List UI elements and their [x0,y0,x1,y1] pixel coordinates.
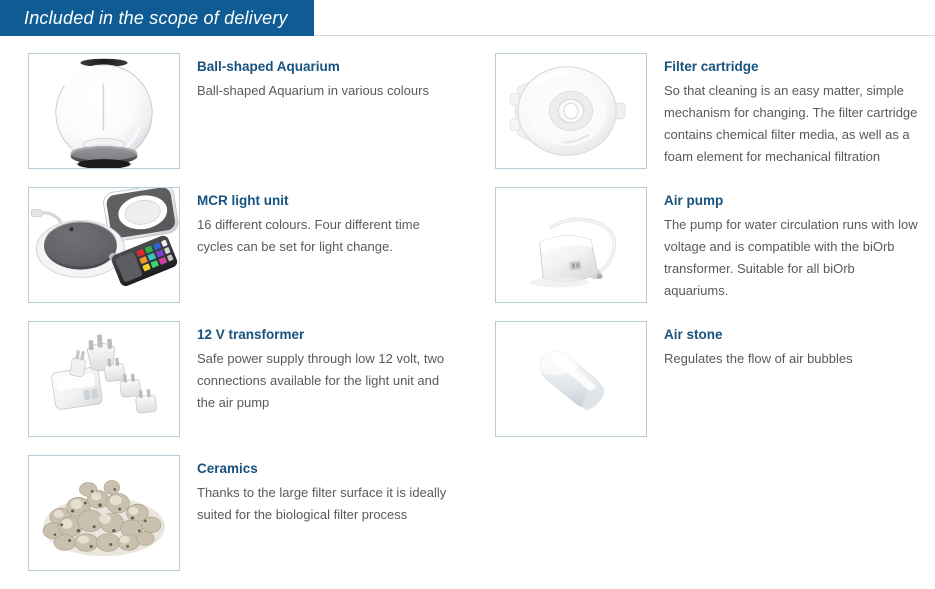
page-title: Included in the scope of delivery [24,8,288,29]
item-text-block: Air stone Regulates the flow of air bubb… [647,321,934,370]
air-stone-photo [495,321,647,437]
item-text-block: Ceramics Thanks to the large filter surf… [180,455,467,526]
item-description: So that cleaning is an easy matter, simp… [664,80,922,168]
item-description: Regulates the flow of air bubbles [664,348,922,370]
item-title: Filter cartridge [664,58,934,76]
12v-transformer-photo [28,321,180,437]
items-grid: Ball-shaped Aquarium Ball-shaped Aquariu… [0,53,935,589]
list-item: Ball-shaped Aquarium Ball-shaped Aquariu… [0,53,467,169]
items-column-right: Filter cartridge So that cleaning is an … [467,53,934,455]
header-banner: Included in the scope of delivery [0,0,314,36]
item-description: 16 different colours. Four different tim… [197,214,455,258]
section-header: Included in the scope of delivery [0,0,935,36]
items-column-left: Ball-shaped Aquarium Ball-shaped Aquariu… [0,53,467,589]
item-text-block: Ball-shaped Aquarium Ball-shaped Aquariu… [180,53,467,102]
item-text-block: 12 V transformer Safe power supply throu… [180,321,467,414]
item-description: Ball-shaped Aquarium in various colours [197,80,455,102]
delivery-scope-content: Ball-shaped Aquarium Ball-shaped Aquariu… [0,36,935,589]
item-text-block: MCR light unit 16 different colours. Fou… [180,187,467,258]
list-item: Air pump The pump for water circulation … [467,187,934,303]
list-item: Ceramics Thanks to the large filter surf… [0,455,467,571]
mcr-light-unit-photo [28,187,180,303]
item-description: Safe power supply through low 12 volt, t… [197,348,455,414]
item-text-block: Air pump The pump for water circulation … [647,187,934,302]
item-title: Air stone [664,326,934,344]
list-item: Air stone Regulates the flow of air bubb… [467,321,934,437]
air-pump-photo [495,187,647,303]
item-title: 12 V transformer [197,326,467,344]
list-item: MCR light unit 16 different colours. Fou… [0,187,467,303]
item-title: MCR light unit [197,192,467,210]
ball-shaped-aquarium-photo [28,53,180,169]
ceramics-photo [28,455,180,571]
item-description: Thanks to the large filter surface it is… [197,482,455,526]
item-description: The pump for water circulation runs with… [664,214,922,302]
list-item: 12 V transformer Safe power supply throu… [0,321,467,437]
item-title: Air pump [664,192,934,210]
list-item: Filter cartridge So that cleaning is an … [467,53,934,169]
filter-cartridge-photo [495,53,647,169]
item-text-block: Filter cartridge So that cleaning is an … [647,53,934,168]
item-title: Ball-shaped Aquarium [197,58,467,76]
item-title: Ceramics [197,460,467,478]
